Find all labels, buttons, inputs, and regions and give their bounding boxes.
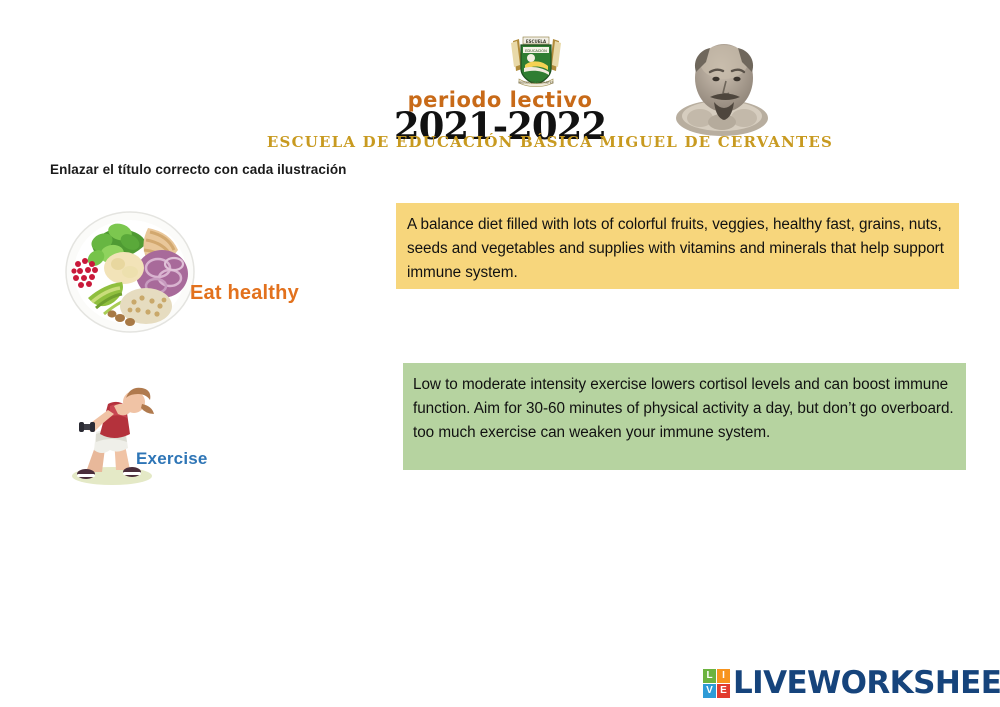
school-crest-icon: ESCUELA EDUCACIÓN MIGUEL DE CERVANTES [505,35,567,93]
live-block-v: V [703,684,716,698]
live-blocks-icon: L I V E [703,669,730,698]
live-block-e: E [717,684,730,698]
liveworksheets-wordmark: LIVEWORKSHEETS [733,668,1000,699]
instruction-text: Enlazar el título correcto con cada ilus… [50,162,347,177]
svg-text:EDUCACIÓN: EDUCACIÓN [525,48,547,53]
description-text-exercise: Low to moderate intensity exercise lower… [413,373,958,445]
live-block-i: I [717,669,730,683]
salad-bowl-image [62,206,198,334]
label-exercise: Exercise [136,449,208,469]
description-text-eat-healthy: A balance diet filled with lots of color… [407,213,948,285]
exercise-person-image [58,378,166,486]
description-box-exercise: Low to moderate intensity exercise lower… [403,363,966,470]
live-block-l: L [703,669,716,683]
svg-text:MIGUEL DE CERVANTES: MIGUEL DE CERVANTES [518,81,553,85]
cervantes-portrait-icon [670,32,775,142]
svg-text:ESCUELA: ESCUELA [526,39,547,44]
label-eat-healthy: Eat healthy [190,282,299,305]
letterhead-header: ESCUELA EDUCACIÓN MIGUEL DE CERVANTES pe… [265,30,835,155]
liveworksheets-logo[interactable]: L I V E LIVEWORKSHEETS [703,663,1000,703]
description-box-eat-healthy: A balance diet filled with lots of color… [396,203,959,289]
